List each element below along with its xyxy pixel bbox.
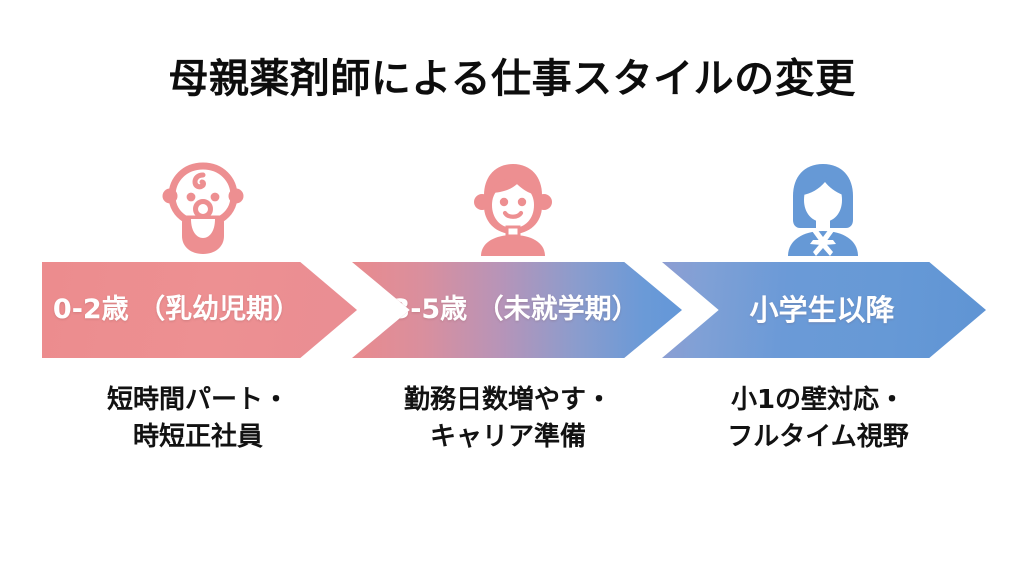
stage-3-icon-slot [763, 158, 883, 256]
stage-caption-1-line2: 時短正社員 [33, 419, 363, 456]
stage-banner-2[interactable]: 3-5歳 （未就学期） [352, 262, 682, 358]
stage-banner-1-text: 0-2歳 （乳幼児期） [53, 293, 300, 327]
stage-banner-1[interactable]: 0-2歳 （乳幼児期） [42, 262, 357, 358]
stage-caption-row: 短時間パート・ 時短正社員 勤務日数増やす・ キャリア準備 小1の壁対応・ フル… [0, 382, 1024, 482]
stage-banner-3-text: 小学生以降 [749, 292, 894, 328]
timeline-infographic: 0-2歳 （乳幼児期） 3-5歳 （未就学期） 小学生以降 短時間パート・ 時短… [0, 0, 1024, 572]
stage-caption-3-line1: 小1の壁対応・ [653, 382, 983, 419]
stage-banner-1-line2: （乳幼児期） [138, 294, 300, 325]
stage-2-icon-slot [453, 158, 573, 256]
stage-caption-2-line1: 勤務日数増やす・ [343, 382, 673, 419]
stage-banner-1-line1: 0-2歳 [53, 294, 129, 325]
child-face-icon [473, 162, 553, 256]
stage-banner-3[interactable]: 小学生以降 [662, 262, 986, 358]
stage-caption-3: 小1の壁対応・ フルタイム視野 [653, 382, 983, 456]
stage-caption-2: 勤務日数増やす・ キャリア準備 [343, 382, 673, 456]
stage-caption-1: 短時間パート・ 時短正社員 [33, 382, 363, 456]
stage-banner-band: 0-2歳 （乳幼児期） 3-5歳 （未就学期） 小学生以降 [0, 262, 1024, 358]
stage-caption-3-line2: フルタイム視野 [653, 419, 983, 456]
stage-banner-2-line2: （未就学期） [477, 294, 639, 325]
stage-caption-2-line2: キャリア準備 [343, 419, 673, 456]
schoolgirl-icon [782, 162, 864, 256]
stage-icon-row [0, 158, 1024, 256]
stage-banner-3-line1: 小学生以降 [749, 293, 894, 327]
stage-banner-2-line1: 3-5歳 [391, 294, 467, 325]
stage-1-icon-slot [143, 158, 263, 256]
stage-banner-2-text: 3-5歳 （未就学期） [391, 293, 638, 327]
baby-icon [160, 162, 246, 256]
stage-caption-1-line1: 短時間パート・ [33, 382, 363, 419]
